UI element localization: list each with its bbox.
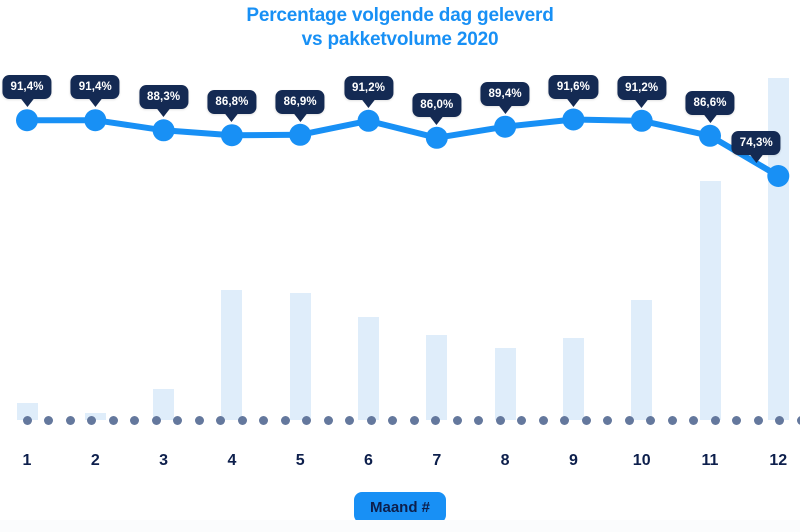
x-axis-label: 2 bbox=[91, 452, 100, 470]
line-marker[interactable] bbox=[358, 110, 380, 132]
x-axis-label: 7 bbox=[432, 452, 441, 470]
data-label: 91,2% bbox=[344, 76, 393, 100]
x-axis-label: 12 bbox=[769, 452, 787, 470]
line-series bbox=[0, 0, 800, 450]
data-label: 91,4% bbox=[71, 75, 120, 99]
x-axis-label: 9 bbox=[569, 452, 578, 470]
line-marker[interactable] bbox=[699, 125, 721, 147]
plot-area: 91,4%91,4%88,3%86,8%86,9%91,2%86,0%89,4%… bbox=[0, 0, 800, 450]
x-axis-label: 10 bbox=[633, 452, 651, 470]
x-axis-label: 3 bbox=[159, 452, 168, 470]
data-label: 91,4% bbox=[2, 75, 51, 99]
data-label: 88,3% bbox=[139, 85, 188, 109]
line-path bbox=[27, 120, 778, 177]
data-label: 86,0% bbox=[412, 93, 461, 117]
line-marker[interactable] bbox=[289, 124, 311, 146]
line-marker[interactable] bbox=[221, 124, 243, 146]
data-label: 91,6% bbox=[549, 75, 598, 99]
line-marker[interactable] bbox=[426, 127, 448, 149]
line-marker[interactable] bbox=[16, 109, 38, 131]
line-marker[interactable] bbox=[84, 109, 106, 131]
line-marker[interactable] bbox=[631, 110, 653, 132]
data-label: 86,6% bbox=[685, 91, 734, 115]
line-marker[interactable] bbox=[767, 165, 789, 187]
x-axis-label: 4 bbox=[227, 452, 236, 470]
x-axis-label: 5 bbox=[296, 452, 305, 470]
line-marker[interactable] bbox=[494, 116, 516, 138]
data-label: 89,4% bbox=[481, 82, 530, 106]
data-label: 86,8% bbox=[207, 90, 256, 114]
line-marker[interactable] bbox=[153, 119, 175, 141]
x-axis-title-wrap: Maand # bbox=[0, 492, 800, 523]
data-label: 91,2% bbox=[617, 76, 666, 100]
data-label: 74,3% bbox=[732, 131, 781, 155]
bottom-band bbox=[0, 520, 800, 532]
x-axis-label: 11 bbox=[702, 452, 719, 470]
line-marker[interactable] bbox=[562, 109, 584, 131]
chart-canvas: Percentage volgende dag geleverd vs pakk… bbox=[0, 0, 800, 532]
x-axis-label: 6 bbox=[364, 452, 373, 470]
x-axis-labels: 123456789101112 bbox=[0, 452, 800, 488]
x-axis-label: 1 bbox=[23, 452, 32, 470]
x-axis-title-badge[interactable]: Maand # bbox=[354, 492, 446, 523]
x-axis-label: 8 bbox=[501, 452, 510, 470]
data-label: 86,9% bbox=[276, 90, 325, 114]
